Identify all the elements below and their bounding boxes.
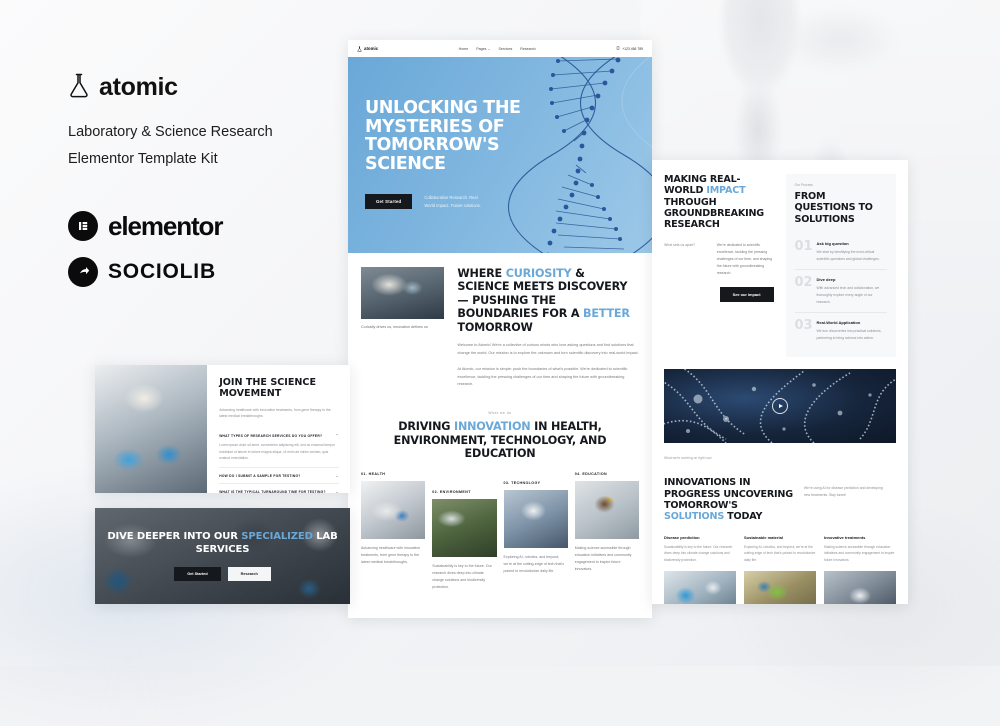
process-step-02-title: Dive deep — [817, 277, 888, 282]
navbar-phone[interactable]: +123 456 789 — [616, 46, 643, 51]
hero-note: Collaborative Research. Real World Impac… — [424, 194, 482, 210]
faq-accordion: WHAT TYPES OF RESEARCH SERVICES DO YOU O… — [219, 428, 339, 493]
play-icon[interactable] — [772, 398, 788, 414]
innovations-card-sustainable-material[interactable]: Sustainable material Exploring AI, robot… — [744, 535, 816, 604]
impact-heading-accent: IMPACT — [706, 185, 745, 196]
cta-heading-accent: SPECIALIZED — [241, 531, 313, 542]
hero-title: UNLOCKING THE MYSTERIES OF TOMORROW'S SC… — [365, 99, 525, 174]
cta-banner-mockup: DIVE DEEPER INTO OUR SPECIALIZED LAB SER… — [95, 508, 350, 604]
innovation-card-education-image — [575, 481, 639, 539]
innovation-card-environment[interactable]: 02. ENVIRONMENT Sustainability is key to… — [432, 490, 496, 591]
site-navbar: atomic Home Pages ⌄ Services Research +1… — [348, 40, 652, 57]
process-step-01-number: 01 — [795, 241, 810, 253]
elementor-wordmark: elementor — [108, 211, 222, 242]
innovations-section: What we're working on right now INNOVATI… — [652, 443, 908, 604]
elementor-logo: elementor — [68, 211, 368, 242]
nav-item-home[interactable]: Home — [459, 47, 469, 51]
cta-buttons: Get Started Research — [174, 567, 271, 581]
faq-item-2[interactable]: HOW DO I SUBMIT A SAMPLE FOR TESTING? ⌄ — [219, 467, 339, 483]
innovation-card-technology-label: 03. TECHNOLOGY — [504, 481, 568, 485]
navbar-logo-text: atomic — [364, 46, 378, 51]
discovery-image-caption: Curiosity drives us, innovation defines … — [361, 324, 444, 331]
cta-content: DIVE DEEPER INTO OUR SPECIALIZED LAB SER… — [95, 508, 350, 604]
process-step-01-title: Ask big question — [817, 241, 888, 246]
nav-item-pages[interactable]: Pages ⌄ — [476, 47, 490, 51]
innovations-card-innovative-treatments[interactable]: Innovative treatments Making science acc… — [824, 535, 896, 604]
hero-content: UNLOCKING THE MYSTERIES OF TOMORROW'S SC… — [365, 99, 525, 209]
faq-item-2-question[interactable]: HOW DO I SUBMIT A SAMPLE FOR TESTING? ⌄ — [219, 473, 339, 478]
innovation-eyebrow: What we do — [361, 411, 639, 415]
sociolib-logo: SOCIOLIB — [68, 257, 368, 287]
innovation-card-technology-text: Exploring AI, robotics, and beyond; we'r… — [504, 554, 568, 575]
innovation-card-education-label: 04. EDUCATION — [575, 472, 639, 476]
innovations-card-3-title: Innovative treatments — [824, 535, 896, 540]
innovations-cards: Disease prediction Sustainability is key… — [664, 535, 896, 604]
cta-get-started-button[interactable]: Get Started — [174, 567, 220, 581]
hero-cta-row: Get Started Collaborative Research. Real… — [365, 194, 525, 210]
discovery-paragraph-2: At Atomic, our mission is simple: push t… — [457, 366, 639, 389]
impact-block: MAKING REAL-WORLD IMPACT THROUGH GROUNDB… — [664, 174, 774, 357]
chevron-down-icon: ⌄ — [335, 473, 339, 478]
innovation-heading: DRIVING INNOVATION IN HEALTH, ENVIRONMEN… — [361, 420, 639, 460]
brand-panel: atomic Laboratory & Science Research Ele… — [68, 72, 368, 287]
innovation-card-environment-text: Sustainability is key to the future. Our… — [432, 563, 496, 591]
hero-title-line-3: TOMORROW'S — [365, 136, 525, 155]
innovations-heading: INNOVATIONS IN PROGRESS UNCOVERING TOMOR… — [664, 477, 794, 522]
phone-icon — [616, 46, 620, 51]
innovation-section: What we do DRIVING INNOVATION IN HEALTH,… — [348, 389, 652, 591]
faq-item-1[interactable]: WHAT TYPES OF RESEARCH SERVICES DO YOU O… — [219, 428, 339, 467]
hero-title-line-2: MYSTERIES OF — [365, 118, 525, 137]
brand-tagline: Laboratory & Science Research Elementor … — [68, 119, 368, 173]
cta-research-button[interactable]: Research — [228, 567, 271, 581]
innovations-card-3-text: Making science accessible through educat… — [824, 544, 896, 563]
hero-get-started-button[interactable]: Get Started — [365, 194, 412, 209]
see-our-impact-button[interactable]: See our impact — [720, 287, 774, 302]
innovation-card-environment-image — [432, 499, 496, 557]
hero-title-line-4: SCIENCE — [365, 155, 525, 174]
faq-page-mockup: JOIN THE SCIENCE MOVEMENT Advancing heal… — [95, 365, 350, 493]
chevron-down-icon: ⌄ — [487, 47, 490, 51]
process-panel: Our Process FROM QUESTIONS TO SOLUTIONS … — [786, 174, 897, 357]
impact-answer: We're dedicated to scientific excellence… — [717, 242, 774, 277]
discovery-text: WHERE CURIOSITY & SCIENCE MEETS DISCOVER… — [457, 267, 639, 389]
brand-tagline-line2: Elementor Template Kit — [68, 146, 368, 173]
innovation-card-technology-image — [504, 490, 568, 548]
innovation-card-health-text: Advancing healthcare with innovative tre… — [361, 545, 425, 566]
lab-scientist-photo — [95, 365, 207, 493]
hero-title-line-1: UNLOCKING THE — [365, 99, 525, 118]
innovation-card-education-text: Making science accessible through educat… — [575, 545, 639, 573]
impact-question: What sets us apart? — [664, 242, 708, 277]
right-page-mockup: MAKING REAL-WORLD IMPACT THROUGH GROUNDB… — [652, 160, 908, 604]
faq-subtitle: Advancing healthcare with innovative tre… — [219, 407, 339, 421]
dna-helix-illustration — [506, 57, 652, 253]
innovations-heading-accent: SOLUTIONS — [664, 511, 724, 522]
innovation-card-health-image — [361, 481, 425, 539]
innovation-card-environment-label: 02. ENVIRONMENT — [432, 490, 496, 494]
dna-video-block[interactable] — [664, 369, 896, 443]
impact-heading: MAKING REAL-WORLD IMPACT THROUGH GROUNDB… — [664, 174, 774, 231]
faq-item-1-answer: Lorem ipsum dolor sit amet, consectetur … — [219, 442, 339, 462]
discovery-paragraph-1: Welcome to Atomic! We're a collective of… — [457, 342, 639, 358]
discovery-section: Curiosity drives us, innovation defines … — [348, 253, 652, 389]
process-steps: 01 Ask big question We start by identify… — [795, 234, 888, 348]
process-step-03-text: We turn discoveries into practical solut… — [817, 328, 888, 341]
sociolib-wordmark: SOCIOLIB — [108, 260, 216, 284]
share-icon — [68, 257, 98, 287]
navbar-logo[interactable]: atomic — [357, 46, 378, 52]
brand-title-row: atomic — [68, 72, 368, 103]
brand-tagline-line1: Laboratory & Science Research — [68, 119, 368, 146]
process-step-01-text: We start by identifying the most critica… — [817, 249, 888, 262]
innovations-card-1-image — [664, 571, 736, 604]
discovery-row: Curiosity drives us, innovation defines … — [361, 267, 639, 389]
center-page-mockup: atomic Home Pages ⌄ Services Research +1… — [348, 40, 652, 618]
cta-heading: DIVE DEEPER INTO OUR SPECIALIZED LAB SER… — [95, 531, 350, 555]
innovations-card-2-title: Sustainable material — [744, 535, 816, 540]
impact-meta: What sets us apart? We're dedicated to s… — [664, 242, 774, 277]
faq-item-1-question[interactable]: WHAT TYPES OF RESEARCH SERVICES DO YOU O… — [219, 433, 339, 438]
faq-item-3[interactable]: WHAT IS THE TYPICAL TURNAROUND TIME FOR … — [219, 483, 339, 493]
innovations-card-2-image — [744, 571, 816, 604]
innovations-note: We're using AI for disease prediction an… — [804, 485, 883, 499]
navbar-phone-number: +123 456 789 — [622, 47, 643, 51]
process-eyebrow: Our Process — [795, 183, 888, 187]
innovations-card-disease-prediction[interactable]: Disease prediction Sustainability is key… — [664, 535, 736, 604]
innovation-card-health-label: 01. HEALTH — [361, 472, 425, 476]
process-heading: FROM QUESTIONS TO SOLUTIONS — [795, 191, 888, 225]
innovations-card-2-text: Exploring AI, robotics, and beyond; we'r… — [744, 544, 816, 563]
process-step-02-number: 02 — [795, 277, 810, 289]
faq-content: JOIN THE SCIENCE MOVEMENT Advancing heal… — [207, 365, 350, 493]
innovations-card-1-text: Sustainability is key to the future. Our… — [664, 544, 736, 563]
hero-section: UNLOCKING THE MYSTERIES OF TOMORROW'S SC… — [348, 57, 652, 253]
process-step-03[interactable]: 03 Real-World Application We turn discov… — [795, 312, 888, 348]
process-step-03-number: 03 — [795, 320, 810, 332]
discovery-media: Curiosity drives us, innovation defines … — [361, 267, 444, 389]
discovery-heading-accent-curiosity: CURIOSITY — [506, 267, 572, 280]
scientist-photo — [361, 267, 444, 319]
process-step-02[interactable]: 02 Dive deep With advanced tech and coll… — [795, 269, 888, 312]
innovation-heading-accent: INNOVATION — [454, 420, 530, 433]
innovation-card-technology[interactable]: 03. TECHNOLOGY Exploring AI, robotics, a… — [504, 481, 568, 575]
discovery-heading: WHERE CURIOSITY & SCIENCE MEETS DISCOVER… — [457, 267, 639, 334]
discovery-heading-accent-better: BETTER — [583, 307, 630, 320]
process-step-02-text: With advanced tech and collaboration, we… — [817, 285, 888, 305]
innovation-cards: 01. HEALTH Advancing healthcare with inn… — [361, 472, 639, 591]
chevron-down-icon: ⌄ — [335, 489, 339, 493]
flask-icon — [68, 72, 90, 103]
innovations-card-1-title: Disease prediction — [664, 535, 736, 540]
impact-process-row: MAKING REAL-WORLD IMPACT THROUGH GROUNDB… — [652, 160, 908, 357]
innovation-card-health[interactable]: 01. HEALTH Advancing healthcare with inn… — [361, 472, 425, 566]
chevron-up-icon: ⌃ — [335, 433, 339, 438]
nav-item-research[interactable]: Research — [520, 47, 535, 51]
nav-item-services[interactable]: Services — [498, 47, 512, 51]
process-step-03-title: Real-World Application — [817, 320, 888, 325]
navbar-menu: Home Pages ⌄ Services Research — [459, 47, 536, 51]
faq-heading: JOIN THE SCIENCE MOVEMENT — [219, 377, 339, 400]
brand-name: atomic — [99, 73, 178, 102]
faq-item-3-question[interactable]: WHAT IS THE TYPICAL TURNAROUND TIME FOR … — [219, 489, 339, 493]
innovation-card-education[interactable]: 04. EDUCATION Making science accessible … — [575, 472, 639, 573]
process-step-01[interactable]: 01 Ask big question We start by identify… — [795, 234, 888, 269]
innovations-card-3-image — [824, 571, 896, 604]
innovations-heading-row: INNOVATIONS IN PROGRESS UNCOVERING TOMOR… — [664, 473, 896, 522]
innovations-eyebrow: What we're working on right now — [664, 456, 896, 460]
elementor-icon — [68, 211, 98, 241]
